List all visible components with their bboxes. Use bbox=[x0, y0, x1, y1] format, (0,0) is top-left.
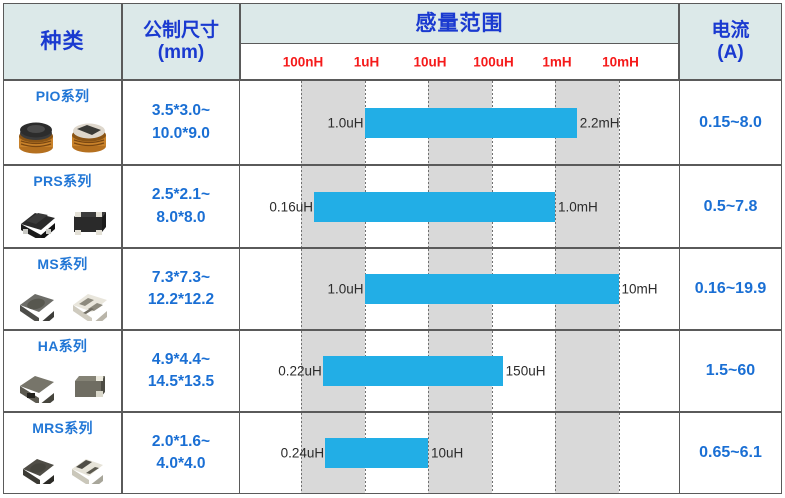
current-cell: 0.65~6.1 bbox=[679, 412, 782, 494]
header-dimension: 公制尺寸 (mm) bbox=[122, 3, 240, 80]
current-cell: 0.5~7.8 bbox=[679, 165, 782, 248]
decade-band bbox=[555, 413, 619, 493]
inductance-range-plot: 0.16uH1.0mH bbox=[240, 165, 679, 248]
decade-band bbox=[555, 331, 619, 411]
dimension-max: 14.5*13.5 bbox=[148, 371, 214, 393]
inductor-photo-icon bbox=[13, 369, 59, 403]
range-low-label: 1.0uH bbox=[327, 282, 363, 297]
gridline-0 bbox=[301, 81, 302, 164]
dimension-max: 12.2*12.2 bbox=[148, 289, 214, 311]
range-low-label: 1.0uH bbox=[327, 115, 363, 130]
header-inductance-range: 感量范围 bbox=[240, 3, 679, 44]
dimension-cell: 4.9*4.4~14.5*13.5 bbox=[122, 330, 240, 412]
header-series-label: 种类 bbox=[41, 30, 85, 54]
gridline-4 bbox=[555, 413, 556, 493]
dimension-max: 8.0*8.0 bbox=[152, 207, 210, 229]
current-value: 0.16~19.9 bbox=[695, 280, 767, 298]
range-high-label: 10mH bbox=[622, 282, 658, 297]
product-photo-group bbox=[13, 110, 112, 164]
range-bar bbox=[365, 274, 619, 304]
series-name: MS系列 bbox=[37, 254, 87, 274]
dimension-min: 2.5*2.1~ bbox=[152, 184, 210, 206]
current-value: 0.5~7.8 bbox=[704, 198, 758, 216]
product-photo-group bbox=[13, 360, 112, 411]
header-dimension-unit: (mm) bbox=[143, 42, 219, 63]
gridline-3 bbox=[492, 413, 493, 493]
range-low-label: 0.16uH bbox=[269, 199, 313, 214]
header-current-label: 电流 bbox=[711, 20, 749, 41]
range-high-label: 150uH bbox=[506, 364, 546, 379]
header-current-unit: (A) bbox=[711, 42, 749, 63]
inductance-range-plot: 0.24uH10uH bbox=[240, 412, 679, 494]
inductor-photo-icon bbox=[13, 287, 59, 321]
header-series: 种类 bbox=[3, 3, 122, 80]
dimension-cell: 7.3*7.3~12.2*12.2 bbox=[122, 248, 240, 330]
gridline-5 bbox=[619, 413, 620, 493]
inductor-photo-icon bbox=[13, 119, 59, 155]
gridline-5 bbox=[619, 331, 620, 411]
gridline-5 bbox=[619, 249, 620, 329]
inductor-photo-icon bbox=[66, 452, 108, 484]
header-dimension-label: 公制尺寸 bbox=[143, 20, 219, 41]
header-inductance-range-label: 感量范围 bbox=[416, 12, 504, 36]
series-cell: PRS系列 bbox=[3, 165, 122, 248]
range-bar bbox=[365, 108, 577, 138]
gridline-4 bbox=[555, 166, 556, 247]
dimension-max: 10.0*9.0 bbox=[152, 123, 210, 145]
scale-tick-label-2: 10uH bbox=[413, 54, 446, 69]
current-value: 1.5~60 bbox=[706, 362, 755, 380]
range-high-label: 2.2mH bbox=[580, 115, 620, 130]
series-name: PIO系列 bbox=[36, 86, 90, 106]
range-bar bbox=[314, 192, 555, 222]
dimension-cell: 3.5*3.0~10.0*9.0 bbox=[122, 80, 240, 165]
inductor-photo-icon bbox=[17, 452, 59, 484]
series-name: HA系列 bbox=[38, 336, 87, 356]
scale-tick-label-1: 1uH bbox=[354, 54, 380, 69]
dimension-min: 2.0*1.6~ bbox=[152, 431, 210, 453]
range-high-label: 1.0mH bbox=[558, 199, 598, 214]
series-cell: MS系列 bbox=[3, 248, 122, 330]
series-cell: MRS系列 bbox=[3, 412, 122, 494]
current-cell: 0.16~19.9 bbox=[679, 248, 782, 330]
range-low-label: 0.22uH bbox=[278, 364, 322, 379]
gridline-5 bbox=[619, 166, 620, 247]
series-name: MRS系列 bbox=[32, 418, 93, 438]
current-value: 0.15~8.0 bbox=[699, 114, 762, 132]
series-cell: HA系列 bbox=[3, 330, 122, 412]
dimension-cell: 2.5*2.1~8.0*8.0 bbox=[122, 165, 240, 248]
current-value: 0.65~6.1 bbox=[699, 444, 762, 462]
range-high-label: 10uH bbox=[431, 446, 463, 461]
inductor-photo-icon bbox=[66, 204, 110, 238]
current-cell: 0.15~8.0 bbox=[679, 80, 782, 165]
gridline-0 bbox=[301, 249, 302, 329]
inductor-photo-icon bbox=[66, 119, 112, 155]
dimension-cell: 2.0*1.6~4.0*4.0 bbox=[122, 412, 240, 494]
product-photo-group bbox=[15, 195, 110, 247]
inductor-spec-table: 种类 公制尺寸 (mm) 感量范围 电流 (A) 100nH1uH10uH100… bbox=[0, 0, 785, 498]
range-bar bbox=[325, 438, 428, 468]
header-current: 电流 (A) bbox=[679, 3, 782, 80]
gridline-2 bbox=[428, 413, 429, 493]
inductor-photo-icon bbox=[66, 369, 112, 403]
scale-tick-label-3: 100uH bbox=[473, 54, 514, 69]
series-name: PRS系列 bbox=[33, 171, 91, 191]
scale-tick-label-5: 10mH bbox=[602, 54, 639, 69]
range-bar bbox=[323, 356, 503, 386]
inductance-scale-axis: 100nH1uH10uH100uH1mH10mH bbox=[240, 44, 679, 80]
inductance-range-plot: 0.22uH150uH bbox=[240, 330, 679, 412]
dimension-min: 4.9*4.4~ bbox=[148, 349, 214, 371]
scale-tick-label-0: 100nH bbox=[283, 54, 324, 69]
scale-tick-label-4: 1mH bbox=[542, 54, 571, 69]
dimension-min: 7.3*7.3~ bbox=[148, 267, 214, 289]
current-cell: 1.5~60 bbox=[679, 330, 782, 412]
range-low-label: 0.24uH bbox=[281, 446, 325, 461]
gridline-4 bbox=[555, 331, 556, 411]
inductor-photo-icon bbox=[15, 204, 59, 238]
inductance-range-plot: 1.0uH10mH bbox=[240, 248, 679, 330]
series-cell: PIO系列 bbox=[3, 80, 122, 165]
inductor-photo-icon bbox=[66, 287, 112, 321]
dimension-max: 4.0*4.0 bbox=[152, 453, 210, 475]
dimension-min: 3.5*3.0~ bbox=[152, 100, 210, 122]
product-photo-group bbox=[17, 442, 108, 493]
product-photo-group bbox=[13, 278, 112, 329]
inductance-range-plot: 1.0uH2.2mH bbox=[240, 80, 679, 165]
